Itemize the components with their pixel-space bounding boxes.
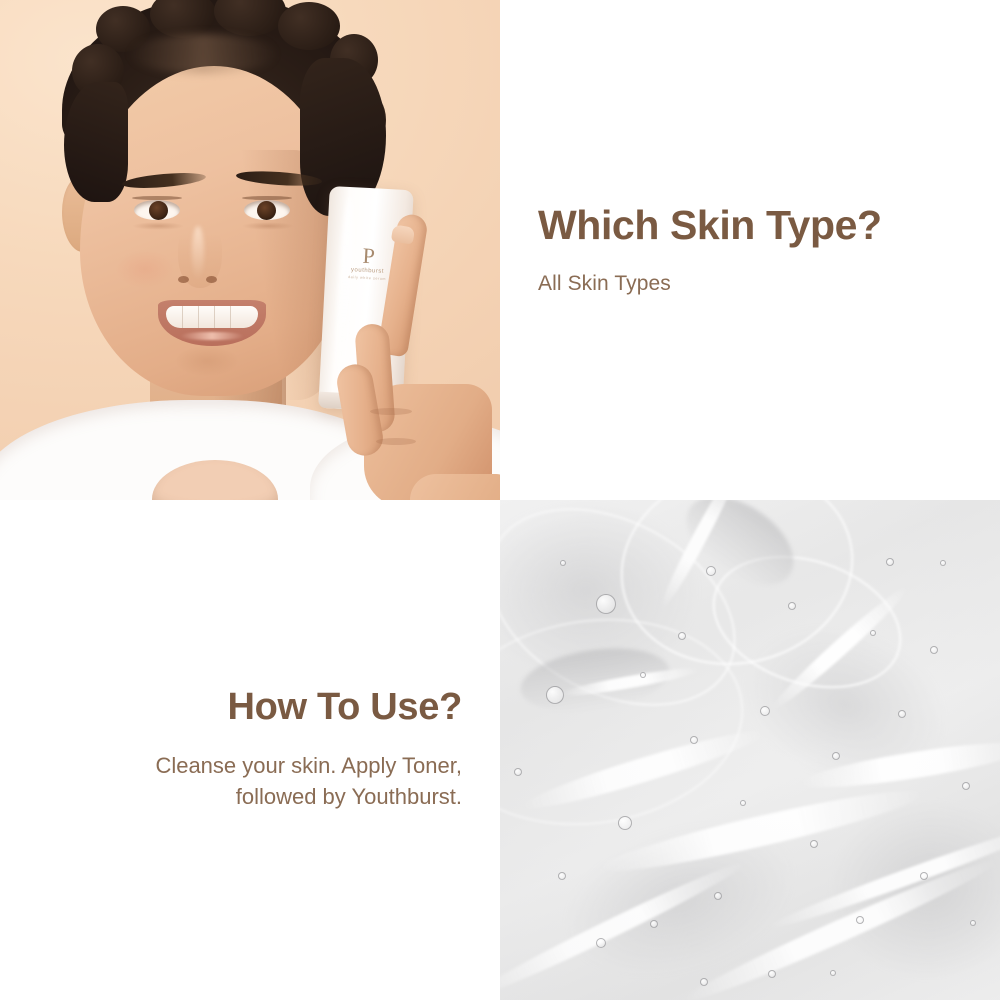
gel-bubble	[558, 872, 566, 880]
gel-bubble	[514, 768, 522, 776]
gel-bubble	[898, 710, 906, 718]
gel-bubble	[618, 816, 632, 830]
gel-bubble	[640, 672, 646, 678]
hair-curl	[278, 2, 340, 50]
product-photo: P youthburst daily white serum	[0, 0, 500, 500]
how-to-use-line-2: followed by Youthburst.	[236, 784, 462, 809]
hair-highlight	[128, 34, 278, 74]
how-to-use-heading: How To Use?	[227, 688, 462, 728]
gel-bubble	[962, 782, 970, 790]
how-to-use-line-1: Cleanse your skin. Apply Toner,	[155, 753, 462, 778]
gel-bubble	[706, 566, 716, 576]
gel-bubble	[560, 560, 566, 566]
gel-bubble	[810, 840, 818, 848]
eye-left	[134, 200, 180, 220]
gel-bubble	[678, 632, 686, 640]
gel-bubble	[930, 646, 938, 654]
how-to-use-panel: How To Use? Cleanse your skin. Apply Ton…	[0, 500, 500, 1000]
gel-bubble	[650, 920, 658, 928]
nose-highlight	[192, 226, 204, 280]
gel-bubble	[920, 872, 928, 880]
gel-bubble	[760, 706, 770, 716]
lip-highlight	[180, 332, 244, 340]
gel-bubble	[690, 736, 698, 744]
skin-type-heading: Which Skin Type?	[538, 204, 970, 247]
gel-bubble	[856, 916, 864, 924]
cheek-blush	[116, 250, 174, 288]
gel-bubble	[788, 602, 796, 610]
brand-logo-icon: P	[362, 246, 374, 267]
eyelid-left	[132, 196, 182, 200]
knuckle	[376, 438, 416, 445]
teeth	[166, 306, 258, 328]
hair-side-left	[64, 82, 128, 202]
gel-texture-photo	[500, 500, 1000, 1000]
nostril-left	[178, 276, 189, 283]
gel-vignette	[500, 500, 1000, 1000]
gel-bubble	[596, 938, 606, 948]
how-to-use-instructions: Cleanse your skin. Apply Toner, followed…	[155, 750, 462, 812]
infographic-canvas: P youthburst daily white serum Which Ski…	[0, 0, 1000, 1000]
gel-bubble	[596, 594, 616, 614]
eyelid-right	[242, 196, 292, 200]
gel-bubble	[832, 752, 840, 760]
skin-type-panel: Which Skin Type? All Skin Types	[500, 0, 1000, 500]
gel-bubble	[546, 686, 564, 704]
undereye-left	[132, 222, 184, 230]
eye-right	[244, 200, 290, 220]
gel-bubble	[830, 970, 836, 976]
hand	[352, 268, 500, 500]
undereye-right	[242, 222, 294, 230]
skin-type-value: All Skin Types	[538, 272, 970, 296]
gel-bubble	[940, 560, 946, 566]
nostril-right	[206, 276, 217, 283]
gel-bubble	[870, 630, 876, 636]
wrist	[410, 474, 500, 500]
gel-bubble	[970, 920, 976, 926]
gel-bubble	[714, 892, 722, 900]
gel-bubble	[886, 558, 894, 566]
gel-bubble	[700, 978, 708, 986]
gel-bubble	[740, 800, 746, 806]
knuckle	[370, 408, 412, 415]
chin-shadow	[176, 346, 238, 376]
gel-bubble	[768, 970, 776, 978]
